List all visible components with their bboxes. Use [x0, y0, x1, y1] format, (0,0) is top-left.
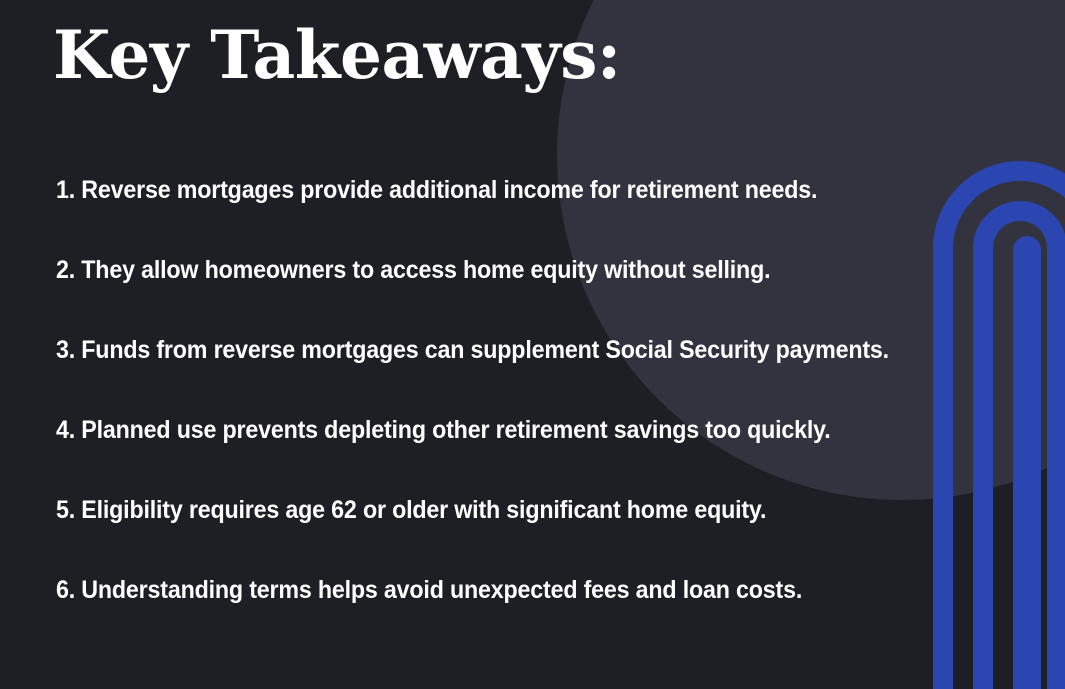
list-item: 5. Eligibility requires age 62 or older … — [56, 470, 949, 550]
list-item: 1. Reverse mortgages provide additional … — [56, 150, 949, 230]
list-item: 4. Planned use prevents depleting other … — [56, 390, 949, 470]
list-item: 3. Funds from reverse mortgages can supp… — [56, 310, 949, 390]
poster-content: Key Takeaways: 1. Reverse mortgages prov… — [0, 0, 1065, 689]
takeaways-list: 1. Reverse mortgages provide additional … — [56, 150, 1016, 630]
list-item: 2. They allow homeowners to access home … — [56, 230, 949, 310]
page-title: Key Takeaways: — [53, 22, 621, 88]
poster-canvas: Key Takeaways: 1. Reverse mortgages prov… — [0, 0, 1065, 689]
list-item: 6. Understanding terms helps avoid unexp… — [56, 550, 949, 630]
